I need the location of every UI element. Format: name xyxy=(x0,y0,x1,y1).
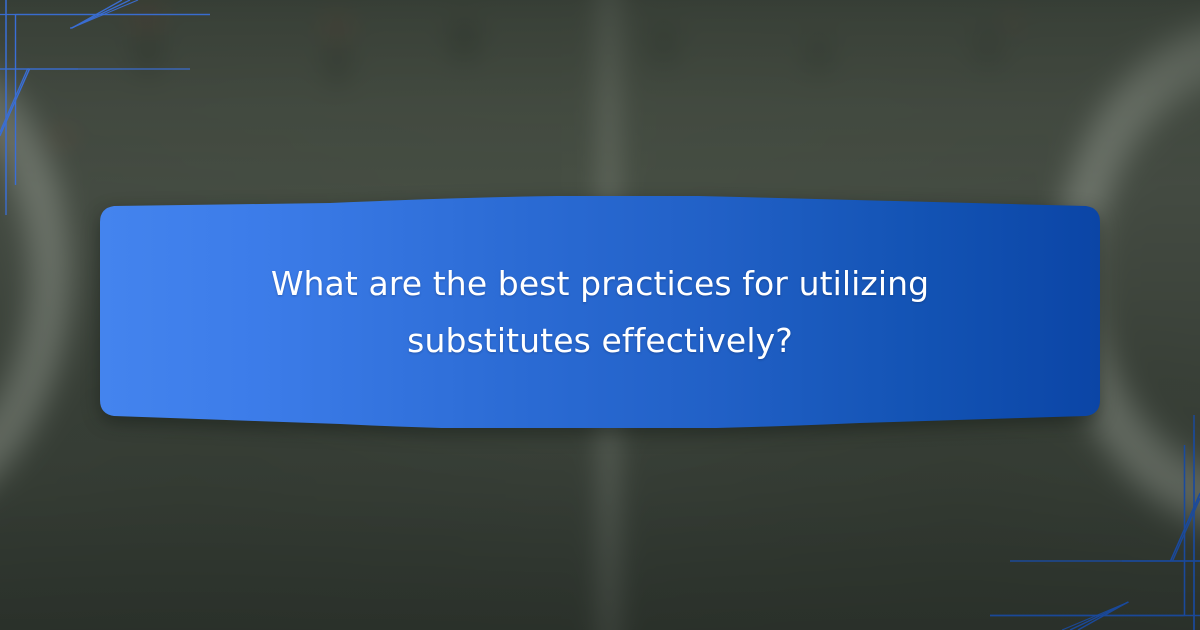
headline-line-1: What are the best practices for utilizin… xyxy=(271,255,929,312)
headline-line-2: substitutes effectively? xyxy=(407,312,793,369)
share-card-canvas: What are the best practices for utilizin… xyxy=(0,0,1200,630)
question-banner: What are the best practices for utilizin… xyxy=(100,196,1100,428)
question-banner-text: What are the best practices for utilizin… xyxy=(100,196,1100,428)
